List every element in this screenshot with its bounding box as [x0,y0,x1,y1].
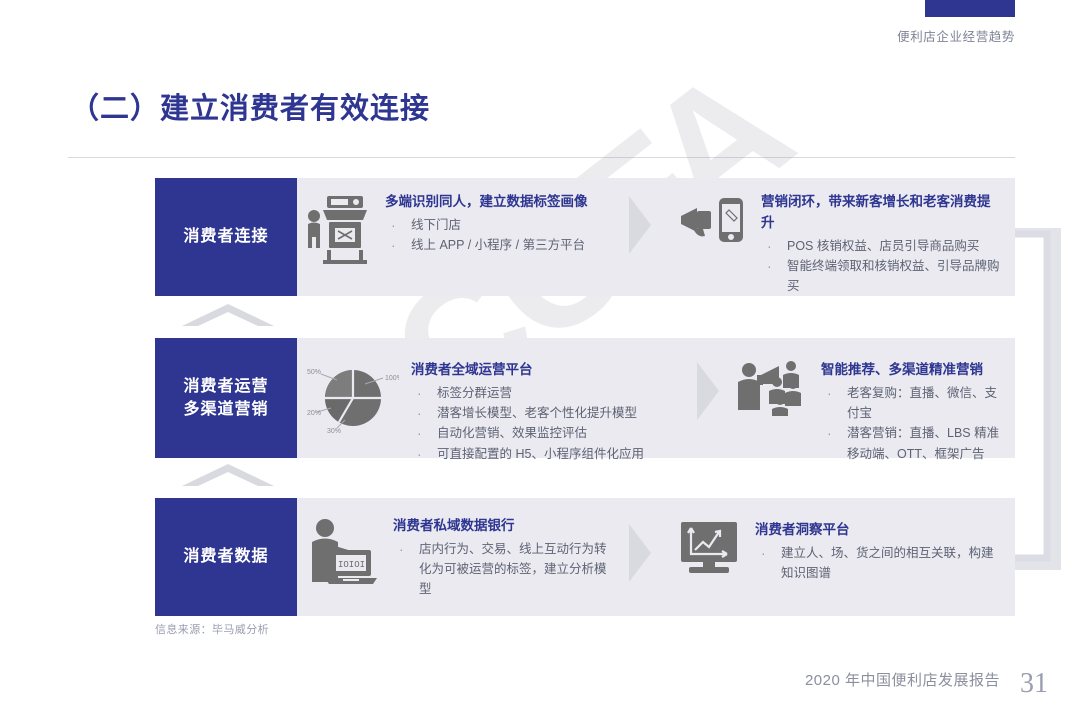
svg-text:20%: 20% [307,410,321,417]
list-item: 店内行为、交易、线上互动行为转化为可被运营的标签，建立分析模型 [393,539,609,600]
list-item: 自动化营销、效果监控评估 [411,423,663,443]
diagram-row-consumer-connection: 消费者连接 [155,178,1015,296]
row-0-flow-arrow [627,194,653,256]
list-item: 智能终端领取和核销权益、引导品牌购买 [761,256,1001,297]
diagram-row-consumer-operations: 消费者运营 多渠道营销 [155,338,1015,458]
consumer-connection-diagram: CCFA 消费者连接 [0,0,1080,722]
svg-text:100%: 100% [385,375,399,382]
row-body-2: IOIOI 消费者私域数据银行 店内行为、交易、线上互动行为转化为可被运营的标签… [297,498,1015,616]
row-1-right-text: 智能推荐、多渠道精准营销 老客复购：直播、微信、支付宝 潜客营销：直播、LBS … [809,338,1007,464]
row-label-0: 消费者连接 [155,178,297,296]
list-item: 线上 APP / 小程序 / 第三方平台 [385,235,609,255]
row-1-flow-arrow [695,360,721,422]
row-1-right-cell: 智能推荐、多渠道精准营销 老客复购：直播、微信、支付宝 潜客营销：直播、LBS … [725,338,1007,458]
list-item: 老客复购：直播、微信、支付宝 [821,383,1001,424]
row-1-right-bullets: 老客复购：直播、微信、支付宝 潜客营销：直播、LBS 精准移动端、OTT、框架广… [821,383,1001,464]
row-1-left-heading: 消费者全域运营平台 [411,360,663,381]
row-2-left-bullets: 店内行为、交易、线上互动行为转化为可被运营的标签，建立分析模型 [393,539,609,600]
row-2-right-heading: 消费者洞察平台 [755,520,1001,541]
row-0-left-cell: 多端识别同人，建立数据标签画像 线下门店 线上 APP / 小程序 / 第三方平… [297,178,615,296]
pie-chart-icon: 100% 50% 20% 30% [307,358,399,441]
svg-text:30%: 30% [327,428,341,435]
page-number: 31 [1020,668,1048,700]
row-0-right-bullets: POS 核销权益、店员引导商品购买 智能终端领取和核销权益、引导品牌购买 [761,236,1001,297]
svg-text:50%: 50% [307,369,321,376]
source-note: 信息来源：毕马威分析 [155,621,269,637]
list-item: 建立人、场、货之间的相互关联，构建知识图谱 [755,543,1001,584]
row-0-left-heading: 多端识别同人，建立数据标签画像 [385,192,609,213]
row-1-left-text: 消费者全域运营平台 标签分群运营 潜客增长模型、老客个性化提升模型 自动化营销、… [399,338,669,464]
megaphone-mobile-icon [679,192,749,257]
person-laptop-icon: IOIOI [307,516,381,593]
row-2-flow-arrow [627,522,653,584]
row-1-right-heading: 智能推荐、多渠道精准营销 [821,360,1001,381]
row-0-right-text: 营销闭环，带来新客增长和老客消费提升 POS 核销权益、店员引导商品购买 智能终… [749,178,1007,297]
list-item: 潜客增长模型、老客个性化提升模型 [411,403,663,423]
row-1-left-cell: 100% 50% 20% 30% 消费者全域运营平台 标签分群运营 潜客增长模型… [297,338,669,458]
row-2-left-text: 消费者私域数据银行 店内行为、交易、线上互动行为转化为可被运营的标签，建立分析模… [381,498,615,600]
list-item: 可直接配置的 H5、小程序组件化应用 [411,444,663,464]
list-item: 线下门店 [385,215,609,235]
footer-report-title: 2020 年中国便利店发展报告 [805,669,1000,690]
storefront-icon [307,192,373,271]
svg-text:IOIOI: IOIOI [338,560,365,570]
row-2-right-cell: 消费者洞察平台 建立人、场、货之间的相互关联，构建知识图谱 [669,498,1007,616]
row-2-right-bullets: 建立人、场、货之间的相互关联，构建知识图谱 [755,543,1001,584]
list-item: 潜客营销：直播、LBS 精准移动端、OTT、框架广告 [821,423,1001,464]
row-2-left-cell: IOIOI 消费者私域数据银行 店内行为、交易、线上互动行为转化为可被运营的标签… [297,498,615,616]
list-item: POS 核销权益、店员引导商品购买 [761,236,1001,256]
row-0-right-cell: 营销闭环，带来新客增长和老客消费提升 POS 核销权益、店员引导商品购买 智能终… [669,178,1007,296]
monitor-chart-icon [679,520,743,581]
megaphone-crowd-icon [735,358,809,421]
row-label-2: 消费者数据 [155,498,297,616]
diagram-row-consumer-data: 消费者数据 IOIOI [155,498,1015,616]
flow-chevron-up-2 [180,462,276,488]
row-0-left-bullets: 线下门店 线上 APP / 小程序 / 第三方平台 [385,215,609,256]
row-0-right-heading: 营销闭环，带来新客增长和老客消费提升 [761,192,1001,234]
row-body-0: 多端识别同人，建立数据标签画像 线下门店 线上 APP / 小程序 / 第三方平… [297,178,1015,296]
row-1-left-bullets: 标签分群运营 潜客增长模型、老客个性化提升模型 自动化营销、效果监控评估 可直接… [411,383,663,464]
row-2-left-heading: 消费者私域数据银行 [393,516,609,537]
row-body-1: 100% 50% 20% 30% 消费者全域运营平台 标签分群运营 潜客增长模型… [297,338,1015,458]
flow-chevron-up-1 [180,302,276,328]
row-0-left-text: 多端识别同人，建立数据标签画像 线下门店 线上 APP / 小程序 / 第三方平… [373,178,615,255]
row-label-1: 消费者运营 多渠道营销 [155,338,297,458]
list-item: 标签分群运营 [411,383,663,403]
row-2-right-text: 消费者洞察平台 建立人、场、货之间的相互关联，构建知识图谱 [743,498,1007,583]
